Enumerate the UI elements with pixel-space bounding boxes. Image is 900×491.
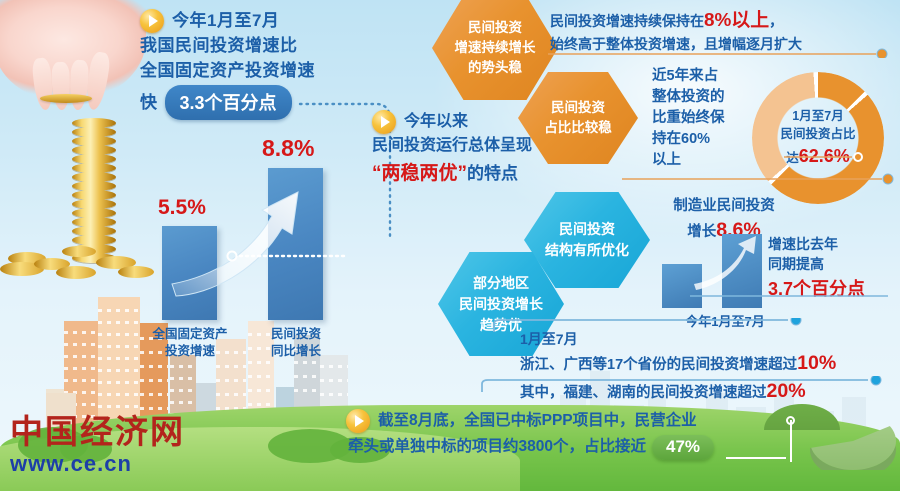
fact-d-line-2: 同期提高 — [768, 255, 898, 275]
fact-a-highlight: 8%以上 — [704, 10, 769, 31]
statement-line-1: 今年1月至7月 — [172, 8, 279, 33]
pie-callout-knob — [786, 416, 795, 425]
watermark-logo: 中国经济网 www.ce.cn — [10, 417, 200, 477]
donut-underline — [782, 150, 872, 164]
fact-b-line-1: 近5年来占 — [652, 66, 734, 87]
connector-line-fact-e — [476, 376, 896, 394]
donut-label-line-2: 民间投资占比 — [780, 125, 855, 143]
fact-c-title-1: 制造业民间投资 — [656, 196, 792, 217]
connector-line-pie — [726, 452, 796, 464]
bar-value-label-2: 8.8% — [262, 135, 314, 162]
hex-c-line-1: 民间投资 — [559, 219, 615, 240]
pie-chart-ppp-share — [764, 398, 896, 484]
hex-b-line-2: 占比比较稳 — [544, 118, 612, 138]
fact-d-line-1: 增速比去年 — [768, 235, 898, 255]
fact-a-line-1: 民间投资增速持续保持在8%以上， — [550, 8, 890, 35]
fact-e-line-1: 1月至7月 — [520, 330, 900, 350]
fact-e-line-2: 浙江、广西等17个省份的民间投资增速超过10% — [520, 350, 900, 378]
play-triangle-icon — [346, 409, 370, 433]
fact-b-line-4: 持在60% — [652, 129, 734, 150]
fact-b-line-2: 整体投资的 — [652, 87, 734, 108]
coin-in-hand — [40, 94, 92, 103]
watermark-site-name: 中国经济网 — [10, 417, 200, 450]
statement-line-4-prefix: 快 — [140, 90, 158, 115]
hex-d-line-2: 民间投资增长 — [459, 294, 543, 315]
bar-category-label-1: 全国固定资产 投资增速 — [144, 326, 236, 360]
highlight-pill-3-3-points: 3.3个百分点 — [165, 85, 292, 120]
hex-a-line-1: 民间投资 — [468, 18, 522, 38]
hexagon-steady-growth[interactable]: 民间投资 增速持续增长 的势头稳 — [432, 0, 558, 100]
statement-line-2: 我国民间投资增速比 — [140, 33, 400, 58]
connector-underline-fact-d — [688, 290, 894, 302]
rising-arrow-icon — [694, 234, 764, 296]
bottom-line-1: 截至8月底，全国已中标PPP项目中，民营企业 — [378, 408, 697, 434]
coin-stack — [72, 118, 116, 264]
hex-d-line-1: 部分地区 — [473, 273, 529, 294]
hex-a-line-2: 增速持续增长 — [455, 38, 536, 58]
fact-e-highlight-10: 10% — [797, 352, 836, 374]
fact-b-line-5: 以上 — [652, 150, 734, 171]
fact-b-line-3: 比重始终保 — [652, 108, 734, 129]
fact-provincial-growth: 1月至7月 浙江、广西等17个省份的民间投资增速超过10% 其中，福建、湖南的民… — [520, 330, 900, 405]
fact-share-above-60pct: 近5年来占 整体投资的 比重始终保 持在60% 以上 — [652, 66, 734, 171]
center-keyword-highlight: “两稳两优” — [372, 163, 467, 184]
connector-line-fact-b — [620, 172, 900, 186]
bottom-line-2-prefix: 牵头或单独中标的项目约3800个，占比接近 — [348, 434, 646, 460]
infographic-canvas: 今年1月至7月 我国民间投资增速比 全国固定资产投资增速 快 3.3个百分点 5… — [0, 0, 900, 491]
connector-line-fact-a — [544, 44, 890, 58]
center-line-1: 今年以来 — [404, 110, 468, 134]
play-triangle-icon — [140, 9, 164, 33]
hex-c-line-2: 结构有所优化 — [545, 240, 629, 261]
hex-a-line-3: 的势头稳 — [468, 58, 522, 78]
rising-arrow-icon — [170, 184, 340, 304]
dotted-link-to-value — [226, 248, 356, 264]
bar-chart-investment-growth: 5.5% 8.8% 全国固定资产 投资增速 民间投资 同比增长 — [156, 150, 366, 360]
donut-label-line-1: 1月至7月 — [792, 107, 843, 125]
watermark-url: www.ce.cn — [10, 451, 200, 477]
statement-line-3: 全国固定资产投资增速 — [140, 58, 400, 83]
play-triangle-icon — [372, 110, 396, 134]
highlight-pill-47-percent: 47% — [652, 435, 714, 460]
bar-category-label-2: 民间投资 同比增长 — [250, 326, 342, 360]
hex-b-line-1: 民间投资 — [551, 98, 605, 118]
